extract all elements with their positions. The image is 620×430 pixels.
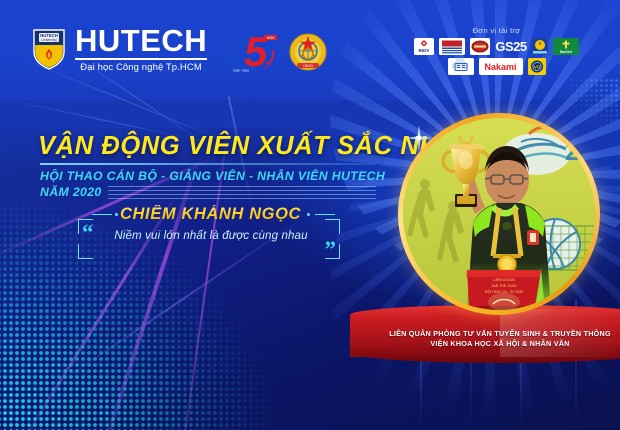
quote-close-mark: ” xyxy=(325,238,337,261)
svg-text:NĂM: NĂM xyxy=(267,36,275,40)
name-dash-left xyxy=(92,214,112,215)
anniversary-25-logo: 2 5 NĂM 1995 - 2020 xyxy=(224,28,280,76)
poster-header: HUTECH University HUTECH Đại học Công ng… xyxy=(0,0,620,92)
sponsor-logo-gs25: GS25 xyxy=(495,38,526,55)
quote-corner-bottom-left xyxy=(78,244,93,259)
sparkle-icon xyxy=(406,125,432,151)
hutech-wordmark: HUTECH Đại học Công nghệ Tp.HCM xyxy=(75,25,207,73)
hutech-logo-lockup: HUTECH University HUTECH Đại học Công ng… xyxy=(32,25,207,73)
sponsor-logo-bank xyxy=(439,38,465,55)
sponsor-section: Đơn vị tài trợ BIDV xyxy=(389,26,604,78)
sponsor-logo-yellow xyxy=(532,38,548,55)
recipient-quote: Niềm vui lớn nhất là được cùng nhau xyxy=(100,230,322,242)
svg-text:LIÊN ĐOÀN: LIÊN ĐOÀN xyxy=(493,277,515,282)
sponsor-logo-bidv: BIDV xyxy=(414,38,434,55)
year-decorative-lines xyxy=(108,186,376,199)
sponsor-row-2: Nakami VD xyxy=(389,58,604,75)
name-dot-left xyxy=(115,213,118,216)
hutech-name: HUTECH xyxy=(75,25,207,56)
quote-box: “ Niềm vui lớn nhất là được cùng nhau ” xyxy=(78,219,340,259)
svg-text:2: 2 xyxy=(224,31,246,73)
hutech-divider xyxy=(75,58,207,60)
sponsor-logo-green: BaoViet xyxy=(553,38,579,55)
sponsor-title: Đơn vị tài trợ xyxy=(389,26,604,35)
sponsor-logo-oval xyxy=(470,38,490,55)
svg-text:GIẢI THỂ THAO: GIẢI THỂ THAO xyxy=(492,283,517,288)
quote-open-mark: “ xyxy=(82,221,94,244)
svg-text:BIDV: BIDV xyxy=(419,48,431,53)
hutech-subtitle: Đại học Công nghệ Tp.HCM xyxy=(80,62,202,73)
svg-text:University: University xyxy=(41,38,57,42)
svg-text:VD: VD xyxy=(533,64,540,69)
sponsor-logo-cloud xyxy=(448,58,474,75)
sponsor-logo-nakami: Nakami xyxy=(479,58,523,75)
recipient-photo: 2 xyxy=(398,113,600,315)
award-subtitle: HỘI THAO CÁN BỘ - GIẢNG VIÊN - NHÂN VIÊN… xyxy=(40,169,385,183)
sponsor-logo-vd: VD xyxy=(528,58,546,75)
poster-canvas: HUTECH University HUTECH Đại học Công ng… xyxy=(0,0,620,430)
svg-text:BaoViet: BaoViet xyxy=(560,50,573,54)
union-emblem-icon: CĐVN xyxy=(286,30,330,74)
podium-caption-line1: LIÊN QUÂN PHÒNG TƯ VẤN TUYỂN SINH & TRUY… xyxy=(350,329,620,339)
quote-corner-top-right xyxy=(325,219,340,234)
union-emblem-label: CĐVN xyxy=(303,64,313,68)
anniversary-caption: 1995 - 2020 xyxy=(233,69,249,73)
title-divider xyxy=(40,163,375,165)
award-year: NĂM 2020 xyxy=(40,185,102,199)
hutech-shield-icon: HUTECH University xyxy=(32,28,66,70)
name-dash-right xyxy=(315,214,335,215)
sponsor-row-1: BIDV xyxy=(389,38,604,55)
podium-caption-line2: VIỆN KHOA HỌC XÃ HỘI & NHÂN VĂN xyxy=(350,339,620,349)
podium-caption: LIÊN QUÂN PHÒNG TƯ VẤN TUYỂN SINH & TRUY… xyxy=(350,329,620,350)
name-dot-right xyxy=(307,213,310,216)
